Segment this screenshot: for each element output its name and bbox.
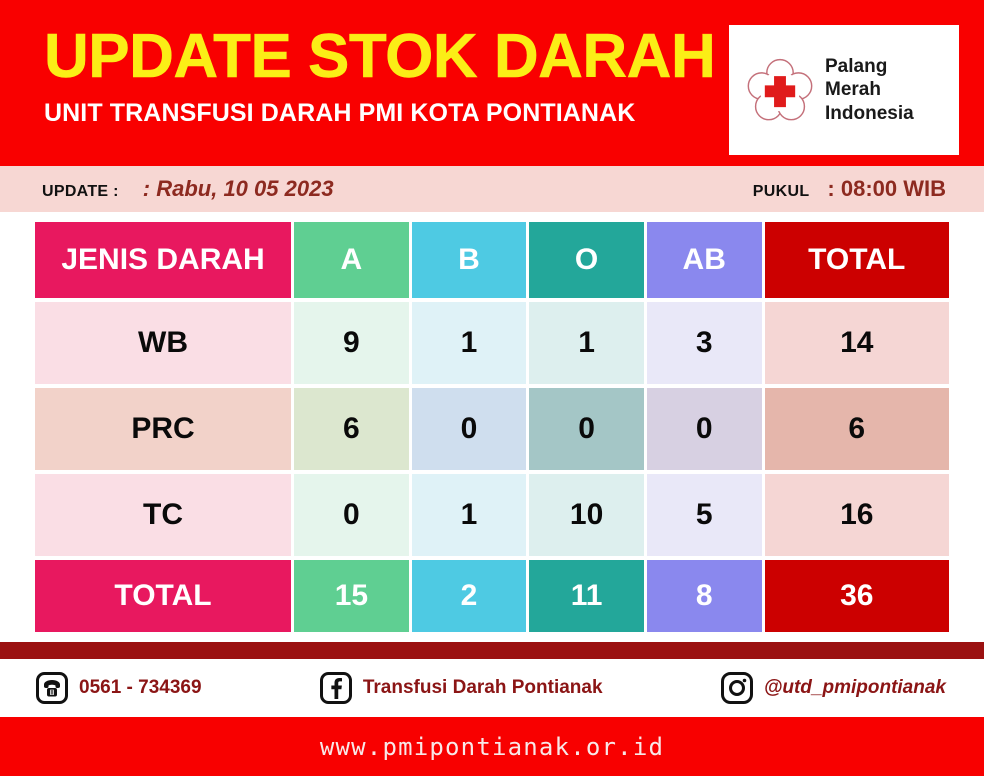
pukul-time-value: : 08:00 WIB — [827, 176, 946, 202]
footer-divider-band — [0, 642, 984, 659]
cell-WB-A: 9 — [294, 302, 409, 384]
cell-PRC-A: 6 — [294, 388, 409, 470]
table-header-row: JENIS DARAHABOABTOTAL — [35, 222, 949, 298]
instagram-handle: @utd_pmipontianak — [764, 677, 946, 699]
cell-WB-O: 1 — [529, 302, 644, 384]
website-band: www.pmipontianak.or.id — [0, 717, 984, 776]
facebook-handle: Transfusi Darah Pontianak — [363, 677, 603, 699]
contact-strip: 0561 - 734369 Transfusi Darah Pontianak … — [0, 659, 984, 717]
pmi-logo-box: Palang Merah Indonesia — [729, 25, 959, 155]
cell-total-A: 15 — [294, 560, 409, 632]
header-text-block: UPDATE STOK DARAH UNIT TRANSFUSI DARAH P… — [44, 24, 704, 128]
column-header-B: B — [412, 222, 527, 298]
cell-total-O: 11 — [529, 560, 644, 632]
poster-header: UPDATE STOK DARAH UNIT TRANSFUSI DARAH P… — [0, 0, 984, 166]
row-label-total: TOTAL — [35, 560, 291, 632]
column-header-O: O — [529, 222, 644, 298]
poster-root: UPDATE STOK DARAH UNIT TRANSFUSI DARAH P… — [0, 0, 984, 776]
cell-total-B: 2 — [412, 560, 527, 632]
row-label-WB: WB — [35, 302, 291, 384]
column-header-TOTAL: TOTAL — [765, 222, 949, 298]
update-label: UPDATE : — [42, 183, 119, 201]
cell-TC-O: 10 — [529, 474, 644, 556]
stock-table-wrap: JENIS DARAHABOABTOTALWB911314PRC60006TC0… — [0, 212, 984, 642]
table-row: WB911314 — [35, 302, 949, 384]
cell-WB-TOTAL: 14 — [765, 302, 949, 384]
page-subtitle: UNIT TRANSFUSI DARAH PMI KOTA PONTIANAK — [44, 99, 704, 128]
cell-PRC-O: 0 — [529, 388, 644, 470]
cell-PRC-AB: 0 — [647, 388, 762, 470]
cell-WB-AB: 3 — [647, 302, 762, 384]
telephone-icon — [36, 672, 68, 704]
pukul-label: PUKUL — [753, 183, 810, 201]
facebook-icon — [320, 672, 352, 704]
cell-TC-B: 1 — [412, 474, 527, 556]
column-header-A: A — [294, 222, 409, 298]
contact-facebook[interactable]: Transfusi Darah Pontianak — [320, 672, 603, 704]
website-url[interactable]: www.pmipontianak.or.id — [320, 733, 664, 761]
contact-phone[interactable]: 0561 - 734369 — [36, 672, 202, 704]
logo-line-3: Indonesia — [825, 102, 914, 125]
cell-PRC-B: 0 — [412, 388, 527, 470]
instagram-icon — [721, 672, 753, 704]
cell-total-AB: 8 — [647, 560, 762, 632]
update-bar: UPDATE : : Rabu, 10 05 2023 PUKUL : 08:0… — [0, 166, 984, 212]
update-time-group: PUKUL : 08:00 WIB — [753, 176, 946, 202]
row-label-TC: TC — [35, 474, 291, 556]
logo-line-1: Palang — [825, 55, 914, 78]
cell-TC-AB: 5 — [647, 474, 762, 556]
cell-PRC-TOTAL: 6 — [765, 388, 949, 470]
cell-TC-TOTAL: 16 — [765, 474, 949, 556]
cell-total-TOTAL: 36 — [765, 560, 949, 632]
table-row: TC0110516 — [35, 474, 949, 556]
table-total-row: TOTAL15211836 — [35, 560, 949, 632]
column-header-AB: AB — [647, 222, 762, 298]
page-title: UPDATE STOK DARAH — [44, 24, 704, 89]
blood-stock-table: JENIS DARAHABOABTOTALWB911314PRC60006TC0… — [32, 218, 952, 636]
row-label-PRC: PRC — [35, 388, 291, 470]
cell-WB-B: 1 — [412, 302, 527, 384]
contact-instagram[interactable]: @utd_pmipontianak — [721, 672, 946, 704]
pmi-logo-icon — [747, 57, 813, 123]
column-header-jenis: JENIS DARAH — [35, 222, 291, 298]
phone-number: 0561 - 734369 — [79, 677, 202, 699]
table-row: PRC60006 — [35, 388, 949, 470]
pmi-logo-wordmark: Palang Merah Indonesia — [825, 55, 914, 125]
cell-TC-A: 0 — [294, 474, 409, 556]
update-date-group: UPDATE : : Rabu, 10 05 2023 — [42, 176, 334, 202]
update-date-value: : Rabu, 10 05 2023 — [143, 176, 334, 202]
logo-line-2: Merah — [825, 78, 914, 101]
